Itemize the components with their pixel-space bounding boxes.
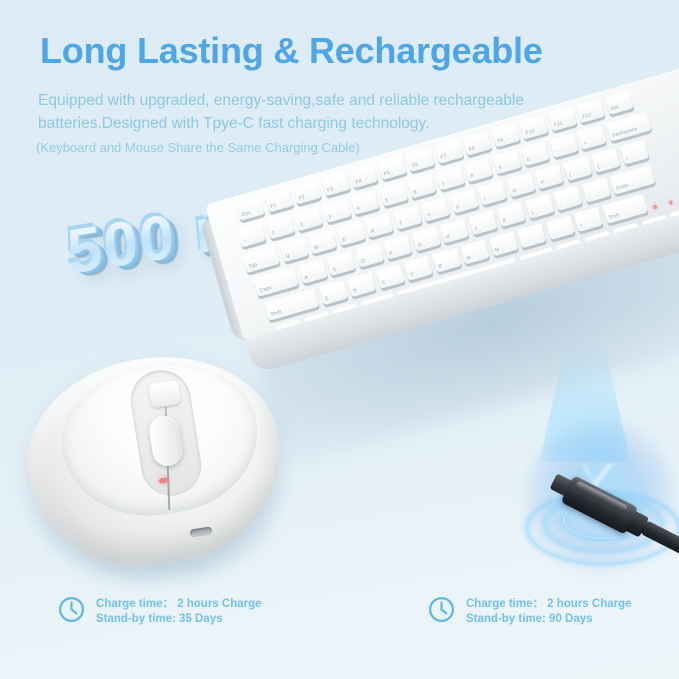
keyboard-key[interactable]: P (534, 164, 563, 189)
key-label: 5 (385, 197, 390, 204)
keyboard-indicator-leds (653, 196, 679, 209)
keyboard-key[interactable]: Z (318, 280, 347, 305)
key-label: 1 (271, 230, 276, 237)
key-label: Tab (248, 262, 258, 270)
clock-icon (58, 596, 85, 628)
keyboard-key[interactable]: F (383, 234, 412, 259)
keyboard-key[interactable]: J (468, 210, 497, 235)
keyboard-key[interactable]: F11 (547, 106, 576, 131)
clock-icon (428, 596, 455, 628)
charge-time-text: Charge time： 2 hours Charge (466, 598, 632, 610)
key-label: ' (587, 194, 590, 200)
key-label: N (466, 255, 471, 262)
key-label: F9 (497, 137, 505, 144)
keyboard-key[interactable]: 2 (294, 206, 323, 231)
key-label: T (398, 220, 403, 227)
key-label: P (540, 180, 545, 187)
key-label: F5 (383, 170, 391, 177)
key-label: 6 (413, 189, 418, 196)
keyboard-key[interactable]: G (411, 226, 440, 251)
key-label: K (502, 218, 507, 225)
keyboard-key[interactable]: N (460, 239, 489, 264)
key-label: [ (569, 172, 572, 178)
keyboard-key[interactable]: / (574, 207, 603, 232)
keyboard-key[interactable]: 1 (265, 214, 294, 239)
keyboard-key[interactable]: F1 (264, 187, 293, 212)
key-label: Shift (608, 212, 620, 221)
key-label: F2 (298, 194, 306, 201)
key-label: Backspace (611, 126, 638, 139)
keyboard-key[interactable]: D (355, 243, 384, 268)
dpi-button (148, 380, 181, 408)
badge-text-group: Charge time： 2 hours Charge Stand-by tim… (96, 597, 262, 627)
keyboard-key[interactable]: Caps (253, 267, 299, 297)
product-feature-poster: Long Lasting & Rechargeable Equipped wit… (0, 0, 679, 679)
keyboard-key[interactable]: 5 (379, 182, 408, 207)
keyboard-key[interactable]: B (432, 247, 461, 272)
keyboard-key[interactable]: F2 (292, 179, 321, 204)
key-label: F4 (355, 178, 363, 185)
key-label: 4 (356, 206, 361, 213)
key-label: O (512, 188, 518, 195)
keyboard-key[interactable]: ' (581, 178, 610, 203)
key-label: ] (597, 164, 600, 170)
keyboard-key[interactable]: C (375, 264, 404, 289)
led-indicator (668, 200, 672, 204)
keyboard-key[interactable]: F3 (321, 171, 350, 196)
feature-note: (Keyboard and Mouse Share the Same Charg… (36, 140, 360, 155)
key-label: F6 (412, 162, 420, 169)
keyboard-key[interactable]: . (545, 215, 574, 240)
key-label: 0 (526, 157, 531, 164)
key-label: \ (625, 156, 628, 162)
keyboard-key[interactable]: = (577, 125, 606, 150)
key-label: Caps (259, 285, 273, 294)
key-label: ; (559, 202, 562, 208)
key-label: 8 (470, 173, 475, 180)
key-label: F12 (582, 112, 593, 120)
keyboard-key[interactable]: 7 (435, 165, 464, 190)
key-label: Shift (270, 309, 282, 318)
key-label: F1 (270, 202, 278, 209)
key-label: Q (285, 253, 291, 260)
keyboard-key[interactable]: R (364, 213, 393, 238)
mouse-image (18, 352, 288, 582)
standby-time-text: Stand-by time: 90 Days (466, 613, 593, 625)
keyboard-key[interactable]: E (336, 221, 365, 246)
key-label: F3 (326, 186, 334, 193)
key-label: B (438, 263, 443, 270)
key-label: G (417, 242, 423, 249)
key-label: M (495, 247, 501, 254)
keyboard-key[interactable]: Backspace (606, 112, 652, 142)
keyboard-key[interactable]: Shift (602, 194, 648, 224)
keyboard-key[interactable]: Tab (242, 245, 280, 273)
keyboard-key[interactable]: - (549, 133, 578, 158)
key-label: 2 (300, 222, 305, 229)
key-label: 3 (328, 214, 333, 221)
key-label: F7 (440, 154, 448, 161)
key-label: F10 (525, 128, 536, 136)
keyboard-key[interactable]: F9 (491, 122, 520, 147)
keyboard-key[interactable]: 3 (322, 198, 351, 223)
key-label: . (551, 231, 554, 237)
key-label: 7 (441, 181, 446, 188)
keyboard-key[interactable]: Del (604, 90, 633, 115)
key-label: U (455, 204, 460, 211)
keyboard-key[interactable]: 6 (407, 173, 436, 198)
keyboard-key[interactable]: I (478, 180, 507, 205)
keyboard-key[interactable]: , (517, 223, 546, 248)
keyboard-key[interactable]: M (489, 231, 518, 256)
key-label: D (360, 258, 365, 265)
keyboard-key[interactable]: Y (421, 197, 450, 222)
key-label: Y (427, 212, 432, 219)
key-label: A (304, 275, 309, 282)
keyboard-key[interactable]: L (525, 194, 554, 219)
keyboard-key[interactable]: F6 (406, 147, 435, 172)
charge-time-text: Charge time： 2 hours Charge (96, 598, 262, 610)
key-label: E (342, 237, 347, 244)
keyboard-key[interactable]: A (298, 259, 327, 284)
keyboard-key[interactable]: S (326, 251, 355, 276)
key-label: R (370, 228, 375, 235)
standby-time-text: Stand-by time: 35 Days (96, 613, 223, 625)
key-label: S (332, 266, 337, 273)
keyboard-key[interactable]: T (393, 205, 422, 230)
keyboard-key[interactable]: F5 (377, 155, 406, 180)
key-label: J (474, 226, 478, 233)
keyboard-key[interactable]: K (496, 202, 525, 227)
key-label: F (389, 250, 394, 257)
keyboard-key[interactable]: ~ (237, 222, 266, 247)
keyboard-key[interactable]: ; (553, 186, 582, 211)
keyboard-key[interactable]: 4 (350, 190, 379, 215)
key-label: X (353, 288, 358, 295)
keyboard-key[interactable]: F7 (434, 139, 463, 164)
key-label: / (580, 223, 583, 229)
key-label: F11 (553, 120, 563, 128)
keyboard-key[interactable]: H (440, 218, 469, 243)
key-label: Del (610, 104, 619, 112)
keyboard-key[interactable]: F12 (576, 98, 605, 123)
battery-badge-mouse: Charge time： 2 hours Charge Stand-by tim… (58, 596, 262, 628)
keyboard-key[interactable]: Q (279, 237, 308, 262)
badge-text-group: Charge time： 2 hours Charge Stand-by tim… (466, 597, 632, 627)
keyboard-key[interactable]: V (404, 256, 433, 281)
keyboard-key[interactable]: 0 (520, 141, 549, 166)
key-label: = (583, 140, 588, 147)
key-label: Esc (241, 210, 251, 218)
key-label: Enter (616, 182, 630, 191)
keyboard-key[interactable]: X (347, 272, 376, 297)
key-label: 9 (498, 165, 503, 172)
key-label: V (409, 271, 414, 278)
keyboard-key[interactable]: O (506, 172, 535, 197)
key-label: I (484, 196, 487, 202)
key-label: L (531, 210, 536, 217)
keyboard-key[interactable]: U (449, 188, 478, 213)
keyboard-key[interactable]: F10 (519, 114, 548, 139)
keyboard-key[interactable]: [ (563, 156, 592, 181)
led-indicator (653, 205, 657, 209)
keyboard-key[interactable]: F8 (462, 131, 491, 156)
key-label: - (555, 149, 558, 155)
usb-c-cable-cord (638, 519, 679, 564)
key-label: ~ (243, 238, 248, 245)
keyboard-key[interactable]: F4 (349, 163, 378, 188)
key-label: F8 (468, 145, 476, 152)
keyboard-key[interactable]: Esc (235, 196, 264, 221)
keyboard-key[interactable]: 8 (464, 157, 493, 182)
page-title: Long Lasting & Rechargeable (40, 30, 543, 72)
key-label: Z (324, 296, 329, 303)
battery-badge-keyboard: Charge time： 2 hours Charge Stand-by tim… (428, 596, 632, 628)
key-label: W (313, 244, 319, 251)
key-label: , (523, 239, 526, 245)
key-label: C (381, 279, 386, 286)
keyboard-key[interactable]: 9 (492, 149, 521, 174)
keyboard-key[interactable]: Enter (610, 165, 656, 195)
keyboard-key[interactable]: W (308, 229, 337, 254)
keyboard-key[interactable]: ] (591, 148, 620, 173)
key-label: H (446, 234, 451, 241)
keyboard-key[interactable]: \ (619, 140, 648, 165)
